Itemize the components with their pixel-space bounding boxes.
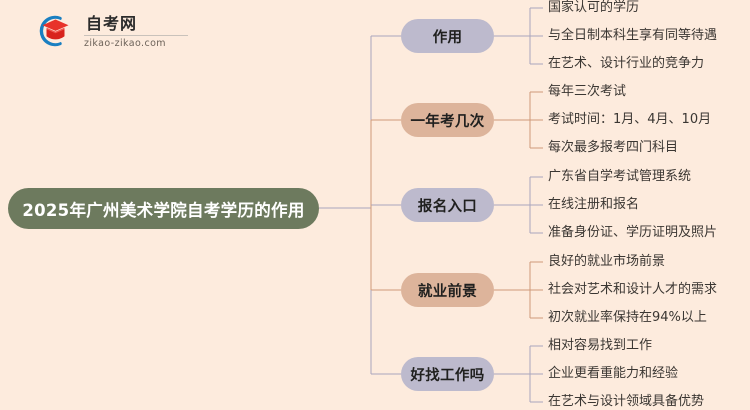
- mindmap-leaf-item[interactable]: 国家认可的学历: [548, 0, 639, 15]
- mindmap-leaf-item[interactable]: 在艺术、设计行业的竞争力: [548, 56, 704, 71]
- mindmap-branch-node[interactable]: 一年考几次: [401, 103, 494, 137]
- mindmap-leaf-item[interactable]: 企业更看重能力和经验: [548, 366, 678, 381]
- mindmap-leaf-item[interactable]: 初次就业率保持在94%以上: [548, 310, 707, 325]
- mindmap-branch-node[interactable]: 就业前景: [401, 273, 494, 307]
- mindmap-branch-node[interactable]: 作用: [401, 19, 494, 53]
- mindmap-branch-label: 一年考几次: [411, 110, 485, 131]
- mindmap-branch-label: 作用: [433, 26, 463, 47]
- mindmap-branch-label: 就业前景: [418, 280, 477, 301]
- mindmap-branch-node[interactable]: 报名入口: [401, 188, 494, 222]
- mindmap-center-node[interactable]: 2025年广州美术学院自考学历的作用: [8, 188, 319, 229]
- mindmap-leaf-item[interactable]: 社会对艺术和设计人才的需求: [548, 282, 717, 297]
- mindmap-leaf-item[interactable]: 每年三次考试: [548, 84, 626, 99]
- mindmap-center-label: 2025年广州美术学院自考学历的作用: [22, 197, 304, 221]
- mindmap-branch-node[interactable]: 好找工作吗: [401, 357, 494, 391]
- mindmap-branch-label: 好找工作吗: [411, 364, 485, 385]
- mindmap-leaf-item[interactable]: 广东省自学考试管理系统: [548, 169, 691, 184]
- mindmap-canvas: 自考网 zikao-zikao.com 2025年广州美术学院自考学历的作用 作…: [0, 0, 750, 410]
- mindmap-leaf-item[interactable]: 在艺术与设计领域具备优势: [548, 394, 704, 409]
- mindmap-leaf-item[interactable]: 每次最多报考四门科目: [548, 140, 678, 155]
- mindmap-leaf-item[interactable]: 考试时间：1月、4月、10月: [548, 112, 711, 127]
- mindmap-branch-label: 报名入口: [418, 195, 477, 216]
- mindmap-leaf-item[interactable]: 与全日制本科生享有同等待遇: [548, 28, 717, 43]
- mindmap-leaf-item[interactable]: 相对容易找到工作: [548, 338, 652, 353]
- mindmap-leaf-item[interactable]: 在线注册和报名: [548, 197, 639, 212]
- mindmap-leaf-item[interactable]: 良好的就业市场前景: [548, 254, 665, 269]
- mindmap-leaf-item[interactable]: 准备身份证、学历证明及照片: [548, 225, 717, 240]
